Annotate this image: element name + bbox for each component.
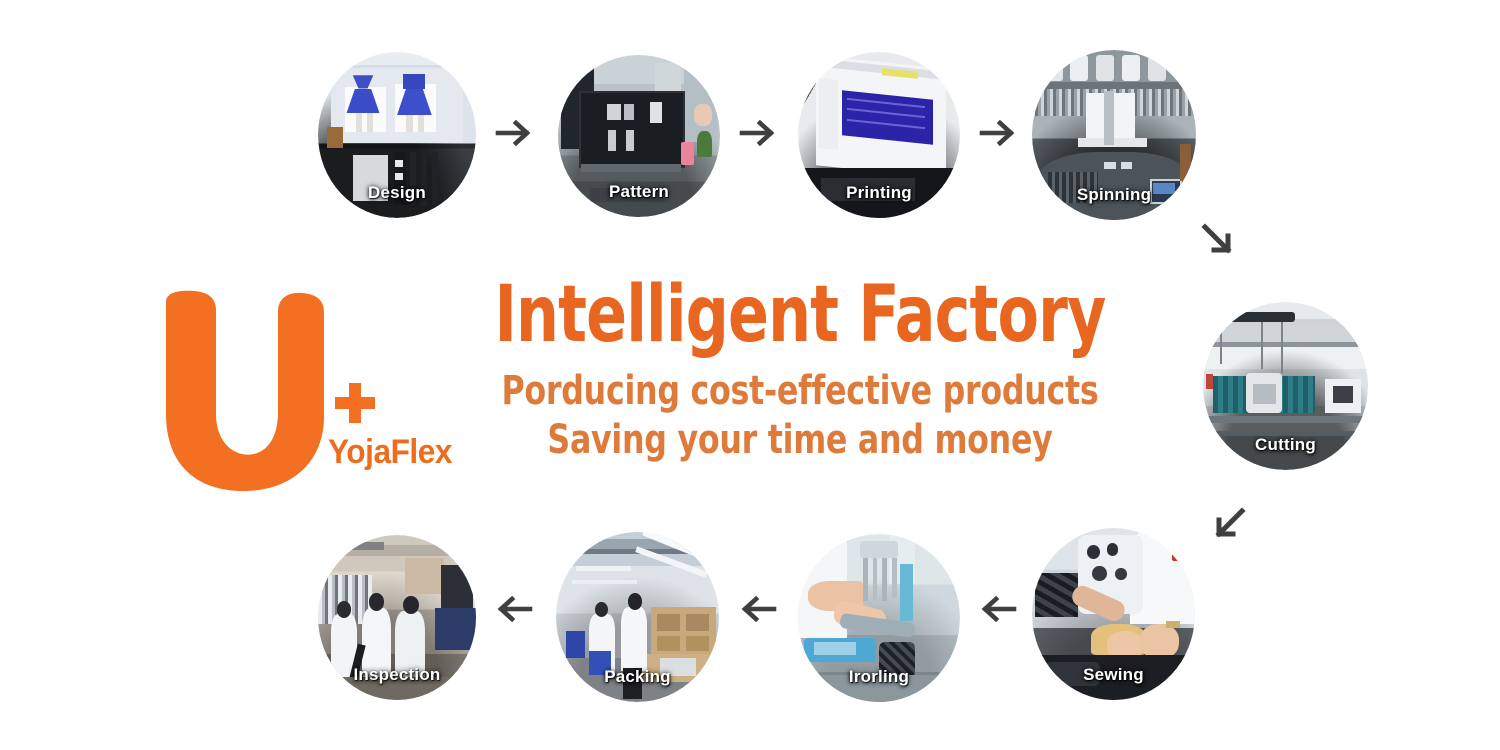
arrow-packing-to-inspection: [494, 594, 534, 624]
arrow-cutting-to-sewing: [1211, 506, 1247, 542]
process-node-cutting[interactable]: Cutting: [1203, 302, 1368, 470]
headline-block: Intelligent Factory Porducing cost-effec…: [430, 278, 1170, 464]
arrow-irorling-to-packing: [738, 594, 778, 624]
page-title: Intelligent Factory: [482, 278, 1118, 353]
logo-plus-icon: [332, 380, 378, 426]
spinning-photo: [1032, 50, 1196, 220]
inspection-photo: [318, 535, 476, 700]
subtitle-line-2: Saving your time and money: [474, 416, 1125, 465]
arrow-pattern-to-printing: [738, 118, 778, 148]
process-node-irorling[interactable]: Irorling: [798, 534, 960, 702]
process-node-spinning[interactable]: Spinning: [1032, 50, 1196, 220]
arrow-printing-to-spinning: [978, 118, 1018, 148]
process-node-printing[interactable]: Printing: [798, 52, 960, 218]
subtitle-line-1: Porducing cost-effective products: [474, 367, 1125, 416]
irorling-photo: [798, 534, 960, 702]
arrow-spinning-to-cutting: [1200, 222, 1236, 258]
logo-u-mark: [150, 288, 330, 493]
process-node-sewing[interactable]: Sewing: [1032, 528, 1195, 700]
process-node-packing[interactable]: Packing: [556, 532, 719, 702]
packing-photo: [556, 532, 719, 702]
arrow-sewing-to-irorling: [978, 594, 1018, 624]
process-node-pattern[interactable]: Pattern: [558, 55, 720, 217]
process-node-inspection[interactable]: Inspection: [318, 535, 476, 700]
cutting-photo: [1203, 302, 1368, 470]
sewing-photo: [1032, 528, 1195, 700]
design-photo: [318, 52, 476, 218]
printing-photo: [798, 52, 960, 218]
arrow-design-to-pattern: [494, 118, 534, 148]
infographic-canvas: Design Pattern: [0, 0, 1500, 750]
process-node-design[interactable]: Design: [318, 52, 476, 218]
pattern-photo: [558, 55, 720, 217]
